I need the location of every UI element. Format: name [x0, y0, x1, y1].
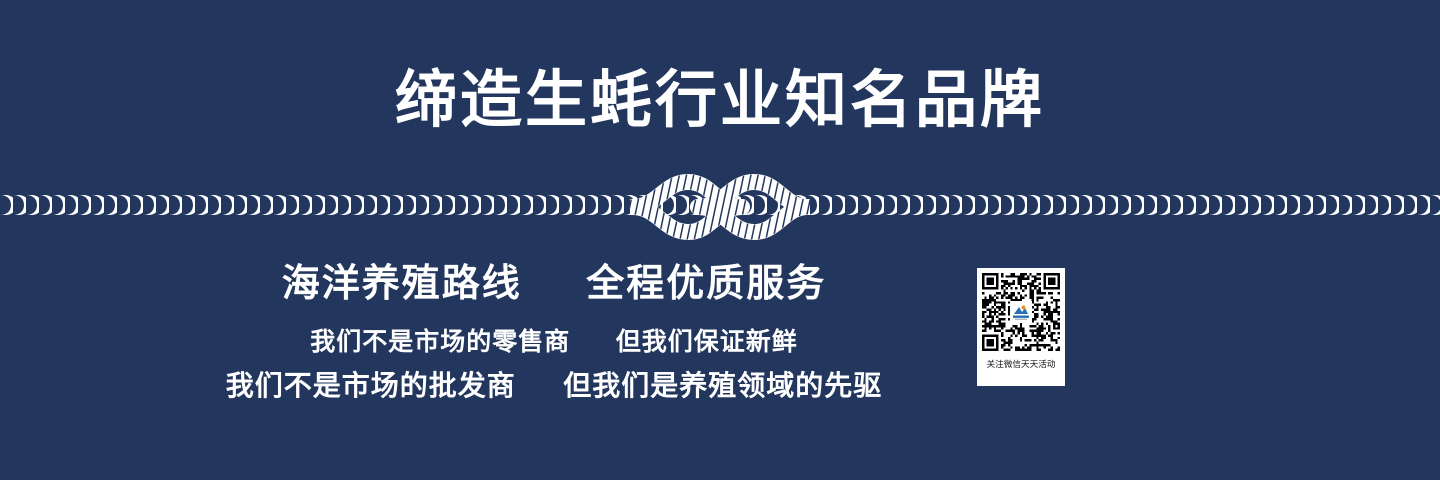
subtitle-right: 全程优质服务 — [586, 261, 826, 305]
tagline-row-2: 我们不是市场的批发商 但我们是养殖领域的先驱 — [0, 364, 1108, 404]
tagline-1-right: 但我们保证新鲜 — [616, 327, 798, 356]
tagline-2-right: 但我们是养殖领域的先驱 — [563, 369, 882, 402]
page-title: 缔造生蚝行业知名品牌 — [0, 66, 1440, 134]
promo-banner: 缔造生蚝行业知名品牌 — [0, 0, 1440, 480]
tagline-2-left: 我们不是市场的批发商 — [226, 369, 516, 402]
rope-divider — [0, 168, 1440, 246]
rope-knot-icon — [630, 168, 810, 246]
subtitle: 海洋养殖路线 全程优质服务 — [0, 262, 1108, 306]
subtitle-left: 海洋养殖路线 — [282, 261, 522, 305]
qr-code-image[interactable] — [982, 273, 1060, 351]
qr-caption: 关注微信天天活动 — [986, 357, 1055, 369]
tagline-1-left: 我们不是市场的零售商 — [310, 327, 570, 356]
qr-code-card[interactable]: 关注微信天天活动 — [977, 268, 1065, 386]
tagline-row-1: 我们不是市场的零售商 但我们保证新鲜 — [0, 322, 1108, 358]
qr-center-logo-icon — [1010, 301, 1032, 323]
